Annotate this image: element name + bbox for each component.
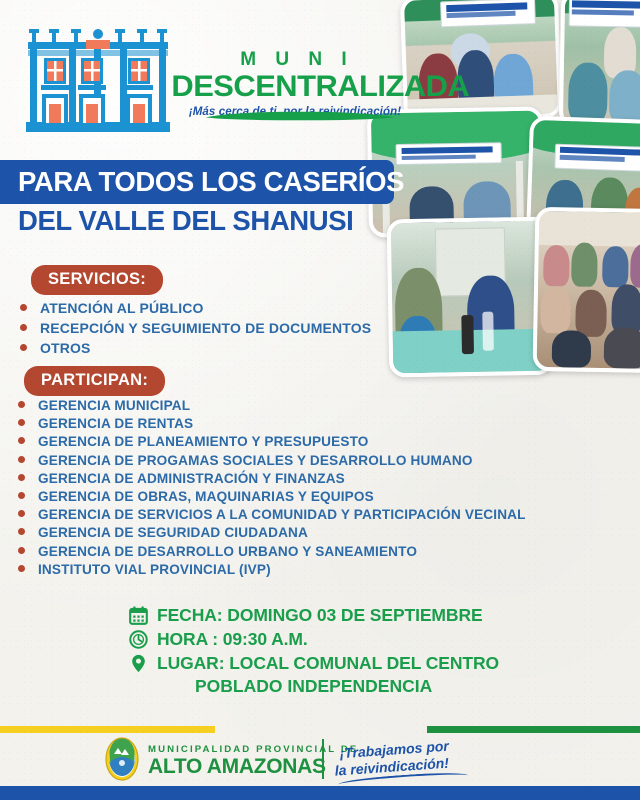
- list-item-label: OTROS: [40, 338, 91, 358]
- list-item: OTROS: [20, 338, 371, 358]
- event-place-value: LOCAL COMUNAL DEL CENTRO: [229, 653, 499, 673]
- bullet-icon: [18, 437, 25, 444]
- list-item-label: GERENCIA DE PROGAMAS SOCIALES Y DESARROL…: [38, 452, 473, 470]
- bullet-icon: [18, 401, 25, 408]
- servicios-badge: SERVICIOS:: [31, 265, 163, 295]
- list-item: GERENCIA DE PLANEAMIENTO Y PRESUPUESTO: [18, 433, 526, 451]
- calendar-icon: [128, 605, 149, 626]
- footer-blue-bar: [0, 786, 640, 800]
- footer-divider: [322, 739, 324, 779]
- event-date-text: FECHA: DOMINGO 03 DE SEPTIEMBRE: [157, 604, 483, 626]
- footer-slogan: ¡Trabajamos por la reivindicación!: [339, 735, 491, 779]
- list-item: GERENCIA DE RENTAS: [18, 415, 526, 433]
- footer-green-bar: [427, 726, 640, 733]
- event-time-text: HORA : 09:30 A.M.: [157, 628, 308, 650]
- coat-of-arms-icon: [104, 737, 140, 781]
- footer-yellow-bar: [0, 726, 215, 733]
- event-place-value-line2: POBLADO INDEPENDENCIA: [195, 676, 499, 697]
- list-item-label: GERENCIA DE DESARROLLO URBANO Y SANEAMIE…: [38, 543, 417, 561]
- poster-canvas: M U N I DESCENTRALIZADA ¡Más cerca de ti…: [0, 0, 640, 800]
- brand-muni-text: M U N I: [179, 50, 415, 69]
- brand-descentralizada-text: DESCENTRALIZADA: [171, 72, 418, 102]
- event-place-row: LUGAR: LOCAL COMUNAL DEL CENTRO: [128, 652, 499, 674]
- bullet-icon: [18, 492, 25, 499]
- event-place-label: LUGAR:: [157, 653, 224, 673]
- list-item-label: GERENCIA DE OBRAS, MAQUINARIAS Y EQUIPOS: [38, 488, 374, 506]
- event-time-row: HORA : 09:30 A.M.: [128, 628, 499, 650]
- headline-line2: DEL VALLE DEL SHANUSI: [18, 205, 353, 237]
- event-date-row: FECHA: DOMINGO 03 DE SEPTIEMBRE: [128, 604, 499, 626]
- brand-lockup: M U N I DESCENTRALIZADA ¡Más cerca de ti…: [175, 50, 415, 118]
- list-item-label: GERENCIA DE PLANEAMIENTO Y PRESUPUESTO: [38, 433, 369, 451]
- list-item: ATENCIÓN AL PÚBLICO: [20, 298, 371, 318]
- participan-list: GERENCIA MUNICIPAL GERENCIA DE RENTAS GE…: [18, 397, 526, 579]
- event-time-label: HORA :: [157, 629, 218, 649]
- bullet-icon: [18, 474, 25, 481]
- event-place-text: LUGAR: LOCAL COMUNAL DEL CENTRO: [157, 652, 499, 674]
- list-item-label: GERENCIA DE SEGURIDAD CIUDADANA: [38, 524, 308, 542]
- bullet-icon: [18, 547, 25, 554]
- footer-org-line1: MUNICIPALIDAD PROVINCIAL DE: [148, 744, 358, 755]
- map-pin-icon: [128, 653, 149, 674]
- municipal-building-icon: [22, 26, 174, 134]
- bullet-icon: [18, 565, 25, 572]
- list-item-label: GERENCIA DE RENTAS: [38, 415, 193, 433]
- footer-org-line2: ALTO AMAZONAS: [148, 756, 358, 778]
- bullet-icon: [18, 510, 25, 517]
- list-item: GERENCIA DE SERVICIOS A LA COMUNIDAD Y P…: [18, 506, 526, 524]
- event-date-label: FECHA:: [157, 605, 223, 625]
- bullet-icon: [18, 528, 25, 535]
- servicios-list: ATENCIÓN AL PÚBLICO RECEPCIÓN Y SEGUIMIE…: [20, 298, 371, 358]
- list-item-label: GERENCIA MUNICIPAL: [38, 397, 190, 415]
- list-item: GERENCIA DE DESARROLLO URBANO Y SANEAMIE…: [18, 543, 526, 561]
- list-item-label: ATENCIÓN AL PÚBLICO: [40, 298, 204, 318]
- event-time-value: 09:30 A.M.: [223, 629, 308, 649]
- list-item: GERENCIA DE SEGURIDAD CIUDADANA: [18, 524, 526, 542]
- list-item-label: INSTITUTO VIAL PROVINCIAL (IVP): [38, 561, 271, 579]
- collage-photo-atencion-mesa: [387, 217, 554, 378]
- footer-org-name: MUNICIPALIDAD PROVINCIAL DE ALTO AMAZONA…: [148, 744, 358, 778]
- list-item-label: GERENCIA DE ADMINISTRACIÓN Y FINANZAS: [38, 470, 345, 488]
- list-item: GERENCIA MUNICIPAL: [18, 397, 526, 415]
- bullet-icon: [20, 344, 27, 351]
- list-item: INSTITUTO VIAL PROVINCIAL (IVP): [18, 561, 526, 579]
- list-item-label: RECEPCIÓN Y SEGUIMIENTO DE DOCUMENTOS: [40, 318, 371, 338]
- bullet-icon: [20, 304, 27, 311]
- bullet-icon: [20, 324, 27, 331]
- list-item: GERENCIA DE OBRAS, MAQUINARIAS Y EQUIPOS: [18, 488, 526, 506]
- bullet-icon: [18, 419, 25, 426]
- list-item: GERENCIA DE PROGAMAS SOCIALES Y DESARROL…: [18, 452, 526, 470]
- headline-banner: PARA TODOS LOS CASERÍOS: [0, 160, 394, 204]
- list-item: RECEPCIÓN Y SEGUIMIENTO DE DOCUMENTOS: [20, 318, 371, 338]
- collage-photo-publico: [533, 207, 640, 373]
- event-details: FECHA: DOMINGO 03 DE SEPTIEMBRE HORA : 0…: [128, 604, 499, 697]
- headline-line1: PARA TODOS LOS CASERÍOS: [0, 166, 404, 198]
- event-date-value: DOMINGO 03 DE SEPTIEMBRE: [227, 605, 482, 625]
- poster-header: M U N I DESCENTRALIZADA ¡Más cerca de ti…: [0, 0, 640, 145]
- list-item: GERENCIA DE ADMINISTRACIÓN Y FINANZAS: [18, 470, 526, 488]
- list-item-label: GERENCIA DE SERVICIOS A LA COMUNIDAD Y P…: [38, 506, 526, 524]
- bullet-icon: [18, 456, 25, 463]
- clock-icon: [128, 629, 149, 650]
- participan-badge: PARTICIPAN:: [24, 366, 165, 396]
